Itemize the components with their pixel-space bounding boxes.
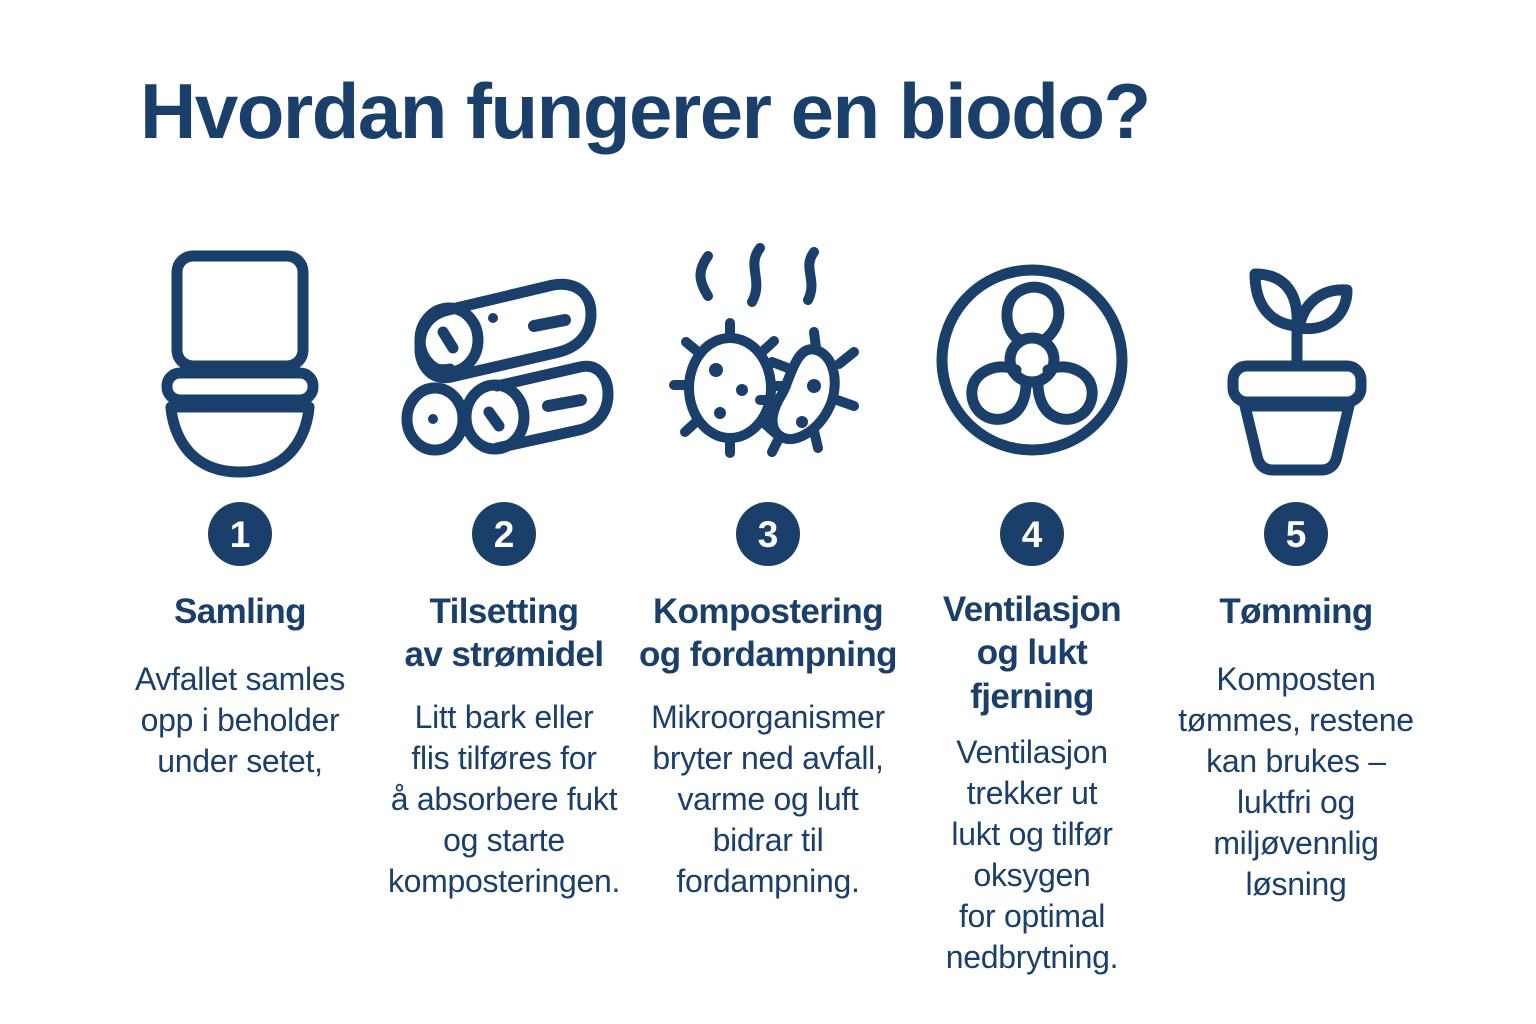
infographic-root: Hvordan fungerer en biodo? 1 Samling Avf… [0,0,1536,1024]
toilet-icon [120,240,360,480]
step-heading-1: Samling [174,590,306,633]
page-title: Hvordan fungerer en biodo? [140,72,1150,150]
potted-plant-icon [1176,240,1416,480]
step-body-4: Ventilasjon trekker ut lukt og tilfør ok… [946,732,1119,978]
steps-row: 1 Samling Avfallet samles opp i beholder… [108,240,1428,978]
step-column-4: 4 Ventilasjon og lukt fjerning Ventilasj… [900,240,1164,978]
step-body-1: Avfallet samles opp i beholder under set… [135,659,345,782]
microbes-icon [648,240,888,480]
step-column-2: 2 Tilsetting av strømidel Litt bark elle… [372,240,636,902]
step-body-3: Mikroorganismer bryter ned avfall, varme… [651,697,885,902]
step-column-1: 1 Samling Avfallet samles opp i beholder… [108,240,372,782]
logs-icon [384,240,624,480]
step-badge-5: 5 [1264,502,1328,566]
step-badge-4: 4 [1000,502,1064,566]
step-heading-5: Tømming [1219,590,1372,633]
step-badge-1: 1 [208,502,272,566]
fan-icon [912,240,1152,480]
step-badge-2: 2 [472,502,536,566]
step-heading-4: Ventilasjon og lukt fjerning [943,588,1121,718]
step-heading-2: Tilsetting av strømidel [405,590,604,677]
step-body-5: Komposten tømmes, restene kan brukes – l… [1178,659,1414,905]
step-body-2: Litt bark eller flis tilføres for å abso… [388,697,620,902]
step-column-3: 3 Kompostering og fordampning Mikroorgan… [636,240,900,902]
step-heading-3: Kompostering og fordampning [639,590,897,677]
step-badge-3: 3 [736,502,800,566]
step-column-5: 5 Tømming Komposten tømmes, restene kan … [1164,240,1428,905]
